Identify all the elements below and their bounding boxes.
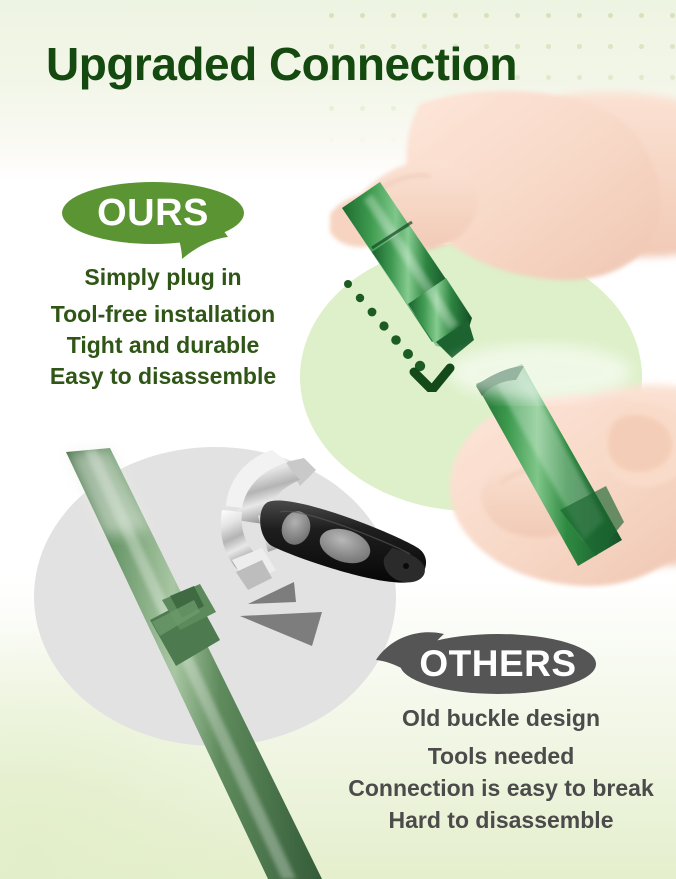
ours-feature-item: Tool-free installation [18, 299, 308, 330]
hammer-force-arrow-icon [238, 572, 334, 646]
others-feature-item: Tools needed [336, 740, 666, 772]
others-feature-item: Connection is easy to break [336, 772, 666, 804]
others-feature-list: Old buckle design Tools needed Connectio… [336, 702, 666, 836]
others-feature-item: Old buckle design [336, 702, 666, 734]
ours-feature-item: Tight and durable [18, 330, 308, 361]
infographic-page: OURS Simply plug in Tool-free installati… [0, 0, 676, 879]
others-badge-label: OTHERS [419, 643, 576, 685]
page-title: Upgraded Connection [46, 37, 517, 91]
others-badge: OTHERS [400, 634, 596, 694]
ours-feature-list: Simply plug in Tool-free installation Ti… [18, 262, 308, 392]
ours-feature-item: Easy to disassemble [18, 361, 308, 392]
insertion-arrow-icon [338, 272, 468, 392]
ours-badge: OURS [62, 182, 244, 244]
others-feature-item: Hard to disassemble [336, 804, 666, 836]
ours-feature-item: Simply plug in [18, 262, 308, 293]
ours-badge-label: OURS [97, 192, 209, 235]
